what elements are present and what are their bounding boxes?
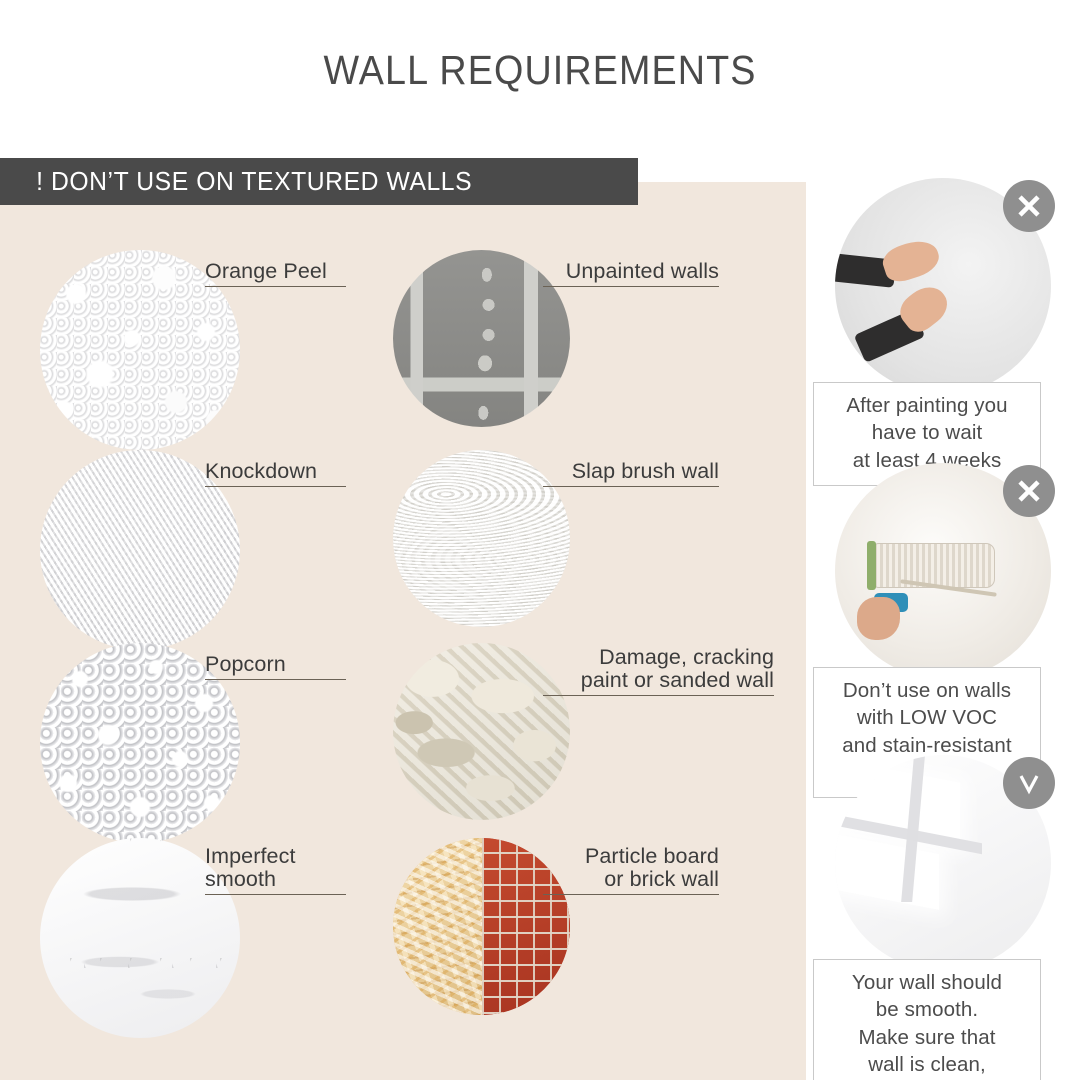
roller-sleeve bbox=[870, 543, 995, 588]
warning-banner-label: ! DON’T USE ON TEXTURED WALLS bbox=[0, 166, 472, 197]
check-badge bbox=[1003, 757, 1055, 809]
tip-card-wait-4-weeks: After painting you have to wait at least… bbox=[805, 178, 1080, 486]
wall-requirements-infographic: WALL REQUIREMENTS ! DON’T USE ON TEXTURE… bbox=[0, 0, 1080, 1080]
tip-card-low-voc: Don’t use on walls with LOW VOC and stai… bbox=[805, 463, 1080, 798]
texture-label-orange-peel: Orange Peel bbox=[205, 260, 346, 287]
tips-column: After painting you have to wait at least… bbox=[805, 0, 1080, 1080]
roller-cap bbox=[867, 541, 876, 591]
tip-photo-wrapper bbox=[835, 755, 1051, 971]
texture-label-slap-brush: Slap brush wall bbox=[543, 460, 719, 487]
cross-icon bbox=[1014, 191, 1044, 221]
texture-label-imperfect-smooth: Imperfect smooth bbox=[205, 845, 346, 895]
texture-label-particle-board-brick: Particle board or brick wall bbox=[543, 845, 719, 895]
cross-icon bbox=[1014, 476, 1044, 506]
particle-board-half bbox=[393, 838, 482, 1015]
texture-grid: Orange Peel Unpainted walls Knockdown Sl… bbox=[0, 205, 806, 1080]
texture-label-knockdown: Knockdown bbox=[205, 460, 346, 487]
tip-photo-wrapper bbox=[835, 178, 1051, 394]
tip-caption-smooth-wall: Your wall should be smooth. Make sure th… bbox=[813, 959, 1041, 1080]
cross-badge bbox=[1003, 465, 1055, 517]
tip-card-smooth-wall: Your wall should be smooth. Make sure th… bbox=[805, 755, 1080, 1080]
texture-label-damaged-wall: Damage, cracking paint or sanded wall bbox=[543, 646, 774, 696]
check-icon bbox=[1013, 767, 1045, 799]
texture-label-popcorn: Popcorn bbox=[205, 653, 346, 680]
tip-photo-wrapper bbox=[835, 463, 1051, 679]
cross-badge bbox=[1003, 180, 1055, 232]
texture-label-unpainted-walls: Unpainted walls bbox=[543, 260, 719, 287]
painter-hand bbox=[857, 597, 900, 640]
warning-banner: ! DON’T USE ON TEXTURED WALLS bbox=[0, 158, 638, 205]
